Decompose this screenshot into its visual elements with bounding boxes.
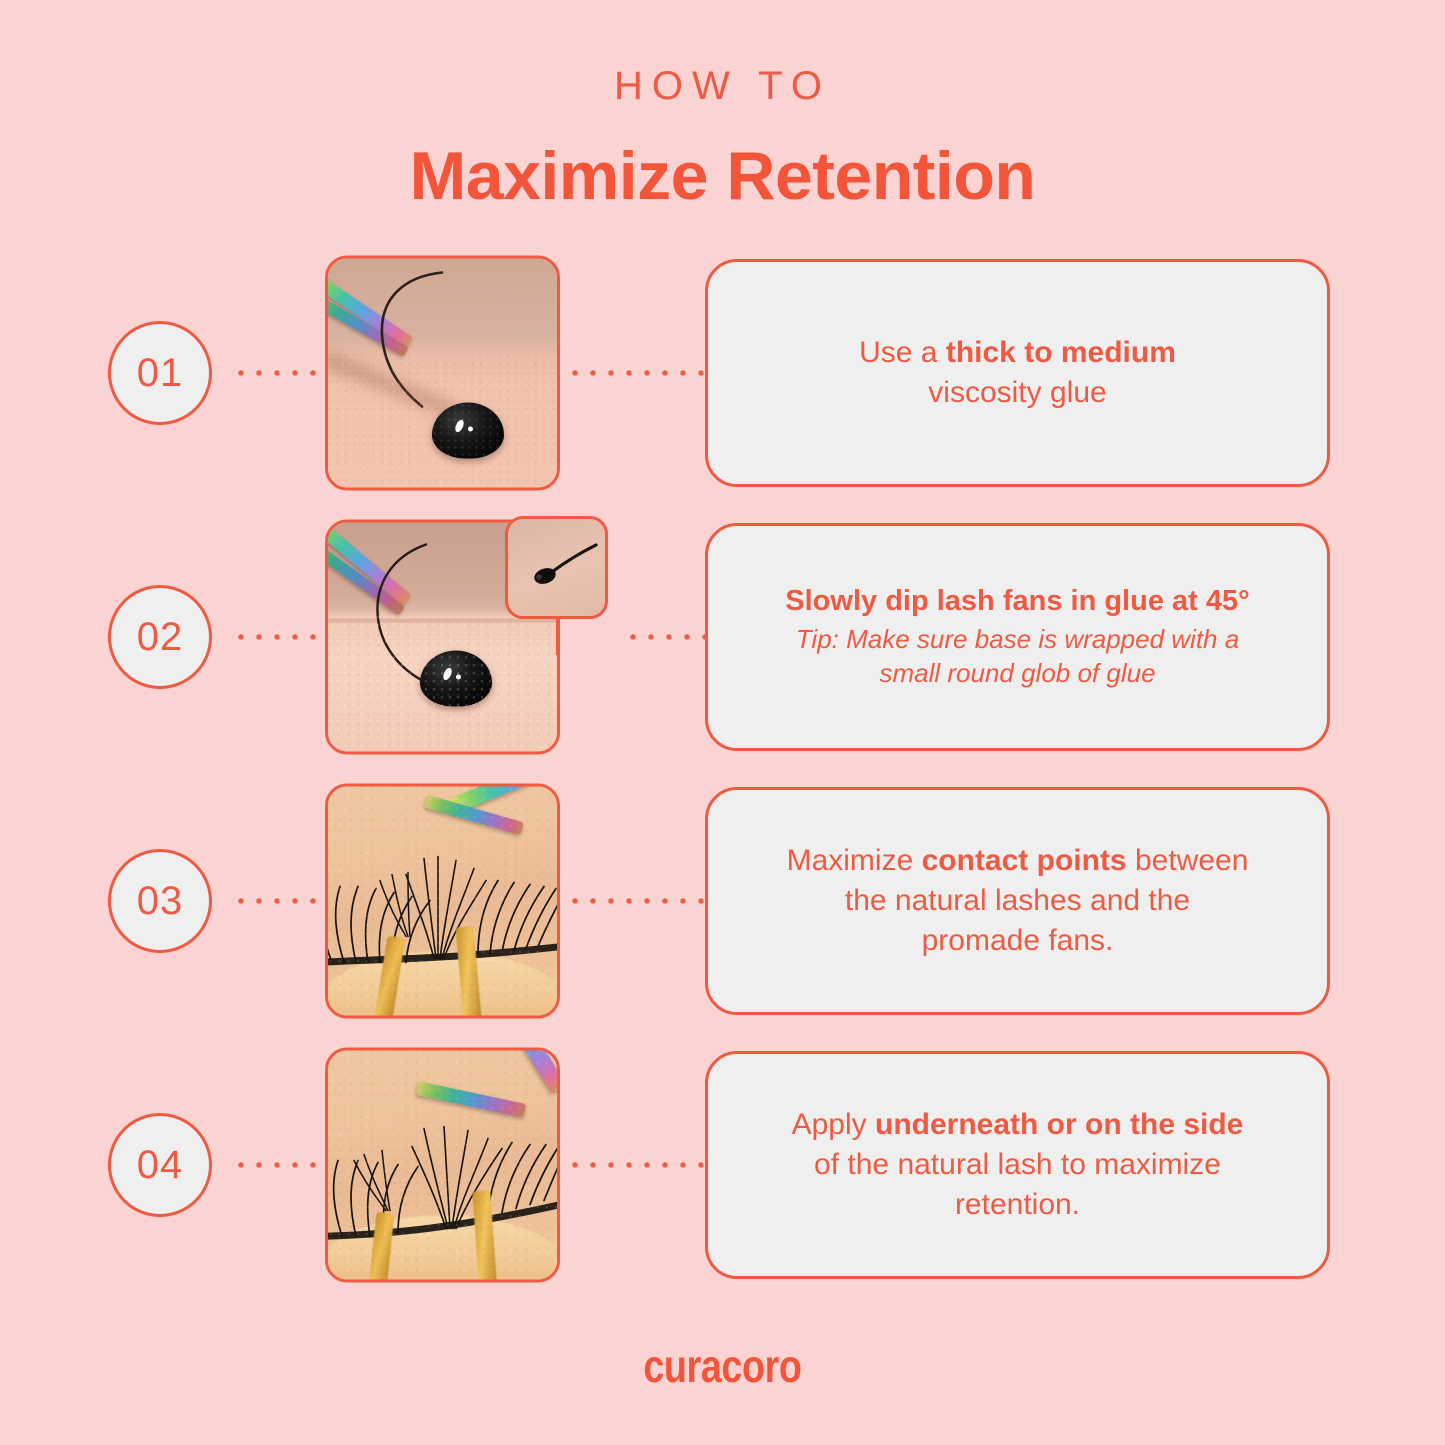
connector-dots-right	[566, 898, 706, 904]
photo-art-lash-contact	[328, 787, 557, 1016]
page-header: HOW TO Maximize Retention	[0, 0, 1445, 210]
step-number-badge: 02	[108, 585, 212, 689]
step4-line1-bold: underneath or on the side	[875, 1108, 1243, 1141]
step-text: Slowly dip lash fans in glue at 45° Tip:…	[785, 583, 1249, 691]
connector-dots-right	[624, 634, 706, 640]
step2-tip-line1: Tip: Make sure base is wrapped with a	[785, 623, 1249, 657]
photo-art-glue-dip	[328, 259, 557, 488]
step3-line1-suffix: between	[1127, 844, 1249, 877]
step-text-card: Slowly dip lash fans in glue at 45° Tip:…	[705, 523, 1330, 751]
glue-drop	[432, 403, 504, 459]
gold-tweezer-left	[373, 936, 406, 1019]
step-photo	[325, 256, 560, 491]
step-number-badge: 01	[108, 321, 212, 425]
connector-dots-left	[232, 1162, 324, 1168]
step4-line2: of the natural lash to maximize	[814, 1148, 1221, 1181]
connector-dots-left	[232, 370, 324, 376]
gold-tweezer-right	[455, 926, 482, 1019]
glue-drop	[420, 651, 492, 707]
gold-tweezer-left	[368, 1212, 395, 1283]
photo-art-lash-underneath	[328, 1051, 557, 1280]
page-footer: curacoro	[0, 1339, 1445, 1393]
inset-connector-stem	[556, 619, 559, 655]
gold-tweezer-right	[472, 1190, 497, 1282]
lash-line-art	[328, 1051, 560, 1283]
step2-heading: Slowly dip lash fans in glue at 45°	[785, 583, 1249, 619]
step-number-label: 01	[137, 351, 184, 396]
step3-line1-prefix: Maximize	[787, 844, 922, 877]
connector-dots-right	[566, 370, 706, 376]
step2-tip-line2: small round glob of glue	[785, 657, 1249, 691]
step-number-label: 03	[137, 879, 184, 924]
step1-line1-bold: thick to medium	[946, 336, 1176, 369]
step-item: 01 Use a thick to	[0, 252, 1445, 494]
step-text: Apply underneath or on the side of the n…	[792, 1105, 1244, 1225]
step4-line1-prefix: Apply	[792, 1108, 875, 1141]
lash-line-art	[328, 787, 560, 1019]
step-number-label: 02	[137, 615, 184, 660]
step3-line2: the natural lashes and the	[845, 884, 1190, 917]
step-number-badge: 03	[108, 849, 212, 953]
step3-line1-bold: contact points	[922, 844, 1127, 877]
step-text: Use a thick to medium viscosity glue	[859, 333, 1176, 413]
step-item: 03	[0, 780, 1445, 1022]
step-photo	[325, 784, 560, 1019]
step-number-badge: 04	[108, 1113, 212, 1217]
step-item: 02	[0, 516, 1445, 758]
step3-line3: promade fans.	[922, 924, 1114, 957]
step4-line3: retention.	[955, 1188, 1080, 1221]
step1-line2: viscosity glue	[928, 376, 1106, 409]
step-number-label: 04	[137, 1143, 184, 1188]
kicker-text: HOW TO	[0, 66, 1445, 106]
connector-dots-right	[566, 1162, 706, 1168]
step-text-card: Maximize contact points between the natu…	[705, 787, 1330, 1015]
step-text-card: Apply underneath or on the side of the n…	[705, 1051, 1330, 1279]
step-text: Maximize contact points between the natu…	[787, 841, 1249, 961]
inset-closeup-photo	[505, 516, 608, 619]
lash-filament	[346, 261, 496, 421]
connector-dots-left	[232, 898, 324, 904]
page-title: Maximize Retention	[0, 142, 1445, 210]
steps-list: 01 Use a thick to	[0, 252, 1445, 1286]
step-photo	[325, 1048, 560, 1283]
step-text-card: Use a thick to medium viscosity glue	[705, 259, 1330, 487]
connector-dots-left	[232, 634, 324, 640]
lash-filament	[348, 523, 508, 723]
step-item: 04	[0, 1044, 1445, 1286]
brand-logo: curacoro	[643, 1339, 801, 1393]
step1-line1-prefix: Use a	[859, 336, 946, 369]
